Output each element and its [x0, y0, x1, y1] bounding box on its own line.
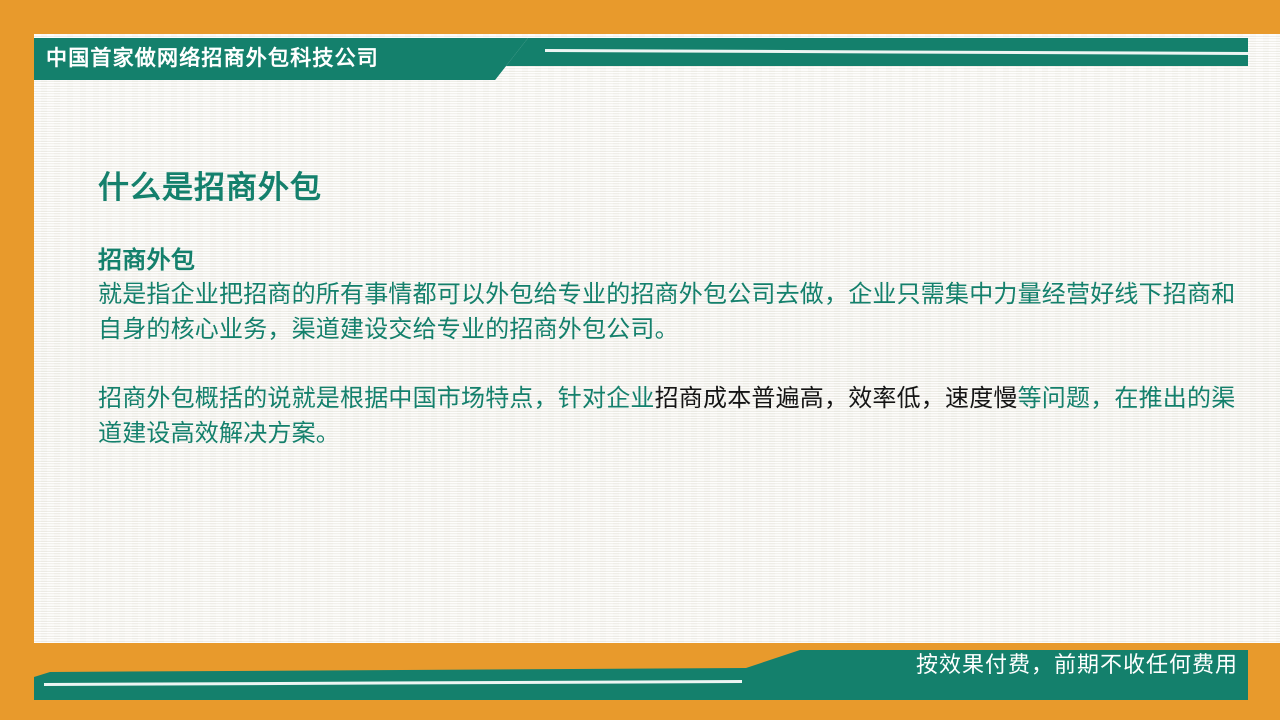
footer-tagline-text: 按效果付费，前期不收任何费用	[916, 650, 1238, 680]
body-paragraph-1: 就是指企业把招商的所有事情都可以外包给专业的招商外包公司去做，企业只需集中力量经…	[98, 277, 1238, 347]
footer-tagline-block	[746, 650, 1248, 700]
footer-strip	[34, 668, 746, 700]
footer-white-rule	[44, 680, 742, 686]
paragraph-2-segment-lead: 招商外包概括的说就是根据中国市场特点，针对企业	[98, 385, 655, 412]
slide-content: 什么是招商外包 招商外包 就是指企业把招商的所有事情都可以外包给专业的招商外包公…	[98, 168, 1238, 451]
body-lead-heading: 招商外包	[98, 244, 1238, 277]
body-paragraph-2: 招商外包概括的说就是根据中国市场特点，针对企业招商成本普遍高，效率低，速度慢等问…	[98, 381, 1238, 451]
paragraph-2-highlight: 招商成本普遍高，效率低，速度慢	[655, 385, 1018, 412]
page-title: 什么是招商外包	[98, 168, 1238, 208]
slide-canvas: 中国首家做网络招商外包科技公司 什么是招商外包 招商外包 就是指企业把招商的所有…	[0, 0, 1280, 720]
